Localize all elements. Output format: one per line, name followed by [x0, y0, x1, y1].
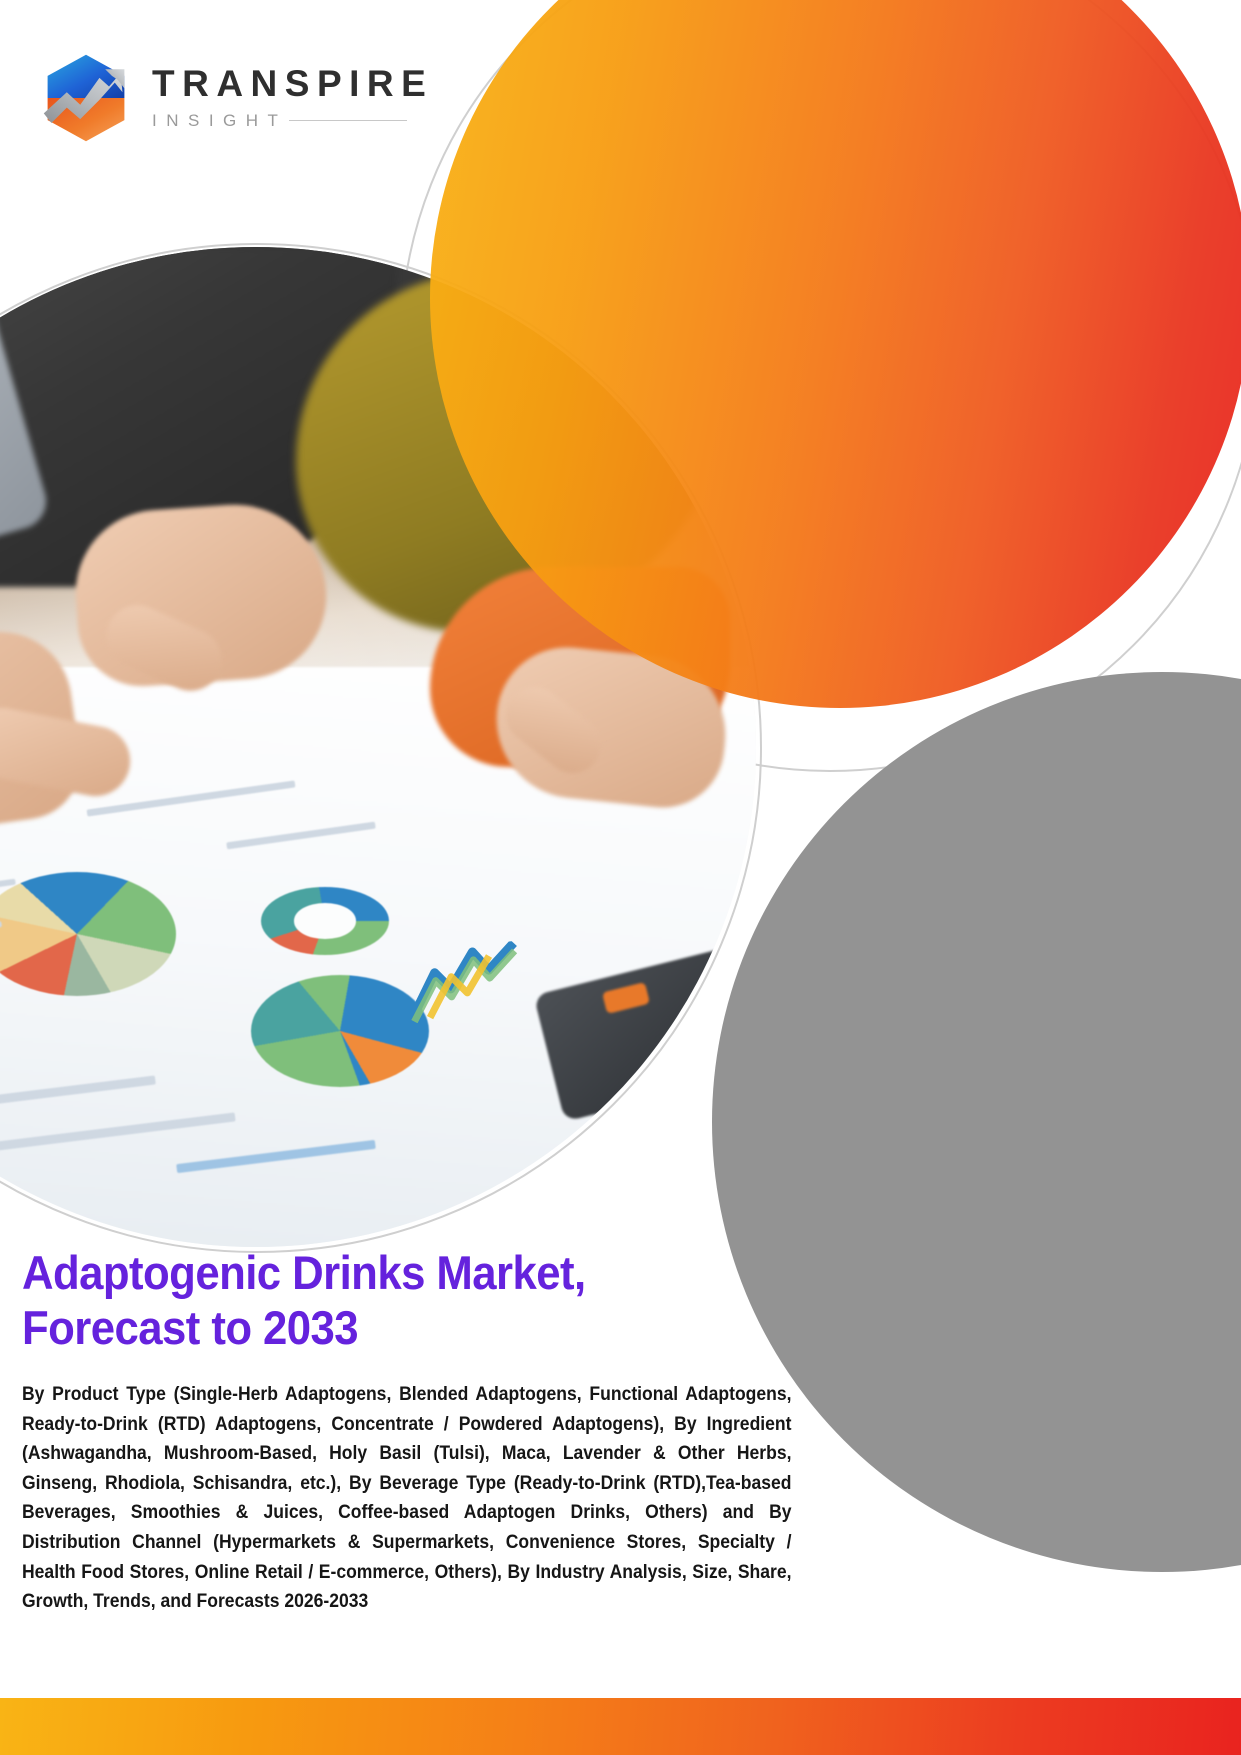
brand-wordmark: TRANSPIRE INSIGHT: [152, 65, 433, 131]
brand-tagline: INSIGHT: [152, 111, 287, 131]
brand-tagline-row: INSIGHT: [152, 111, 433, 131]
brand-rule-divider: [289, 120, 407, 121]
report-scope-description: By Product Type (Single-Herb Adaptogens,…: [22, 1380, 792, 1617]
brand-logo[interactable]: TRANSPIRE INSIGHT: [38, 50, 433, 146]
brand-name: TRANSPIRE: [152, 65, 433, 104]
report-cover-page: TRANSPIRE INSIGHT Adaptogenic Drinks Mar…: [0, 0, 1241, 1755]
cover-text-block: Adaptogenic Drinks Market, Forecast to 2…: [22, 1245, 782, 1617]
photo-zigzag-chart-icon: [402, 940, 530, 1024]
page-title: Adaptogenic Drinks Market, Forecast to 2…: [22, 1245, 729, 1356]
transpire-hex-arrow-logo-icon: [38, 50, 134, 146]
bottom-gradient-bar: [0, 1698, 1241, 1755]
